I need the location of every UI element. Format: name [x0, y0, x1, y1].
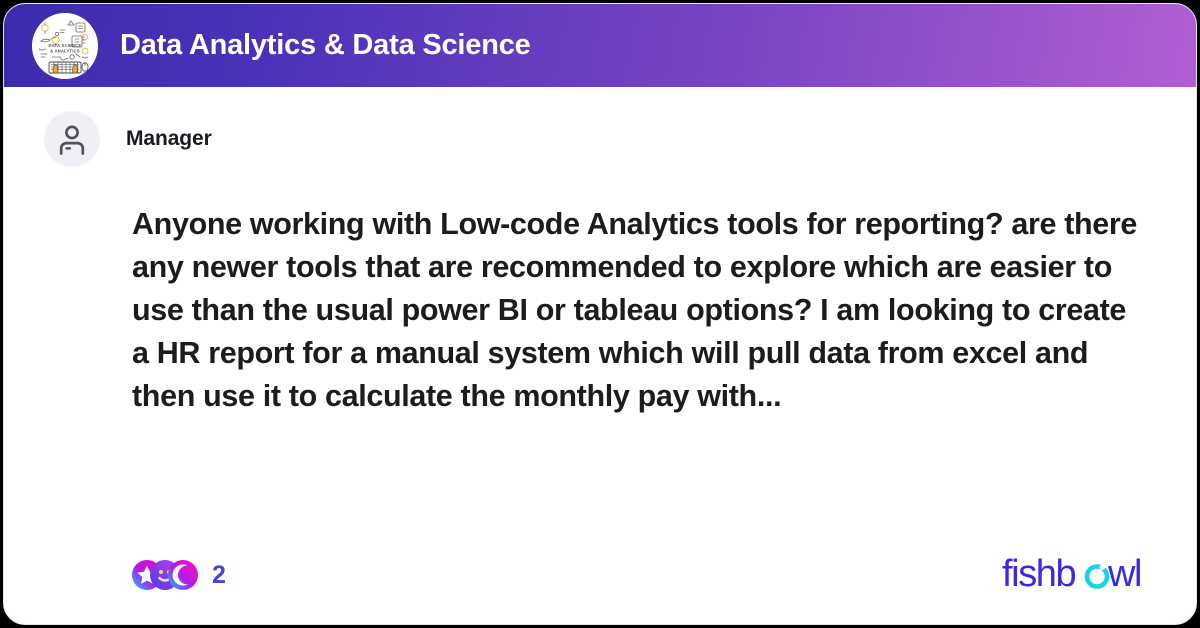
avatar-caption-line2: & ANALYTICS [50, 48, 80, 53]
avatar-caption-line1: DATA SCIENCE [49, 43, 82, 48]
reaction-badge-stack[interactable] [132, 560, 198, 590]
data-science-analytics-badge-icon[interactable]: DATA SCIENCE & ANALYTICS [32, 13, 98, 79]
person-icon [55, 122, 89, 156]
post-card: DATA SCIENCE & ANALYTICS [3, 3, 1197, 625]
fishbowl-text-before: fishb [1002, 553, 1076, 595]
avatar[interactable] [44, 111, 100, 167]
reactions[interactable]: 2 [132, 560, 226, 590]
crescent-reaction-icon[interactable] [168, 560, 198, 590]
fishbowl-logo[interactable]: fishb wl [1002, 553, 1148, 597]
post-footer: 2 fishb wl [4, 552, 1196, 598]
post-author-row[interactable]: Manager [44, 109, 1148, 169]
screenshot-root: DATA SCIENCE & ANALYTICS [0, 0, 1200, 628]
post-text: Anyone working with Low-code Analytics t… [132, 203, 1140, 418]
author-name: Manager [126, 127, 212, 151]
group-header[interactable]: DATA SCIENCE & ANALYTICS [4, 4, 1196, 87]
group-title: Data Analytics & Data Science [120, 29, 531, 62]
fishbowl-text-after: wl [1107, 553, 1141, 595]
reaction-count: 2 [212, 561, 226, 590]
post-body: Manager Anyone working with Low-code Ana… [4, 87, 1196, 624]
fishbowl-bowl-icon [1087, 563, 1107, 587]
